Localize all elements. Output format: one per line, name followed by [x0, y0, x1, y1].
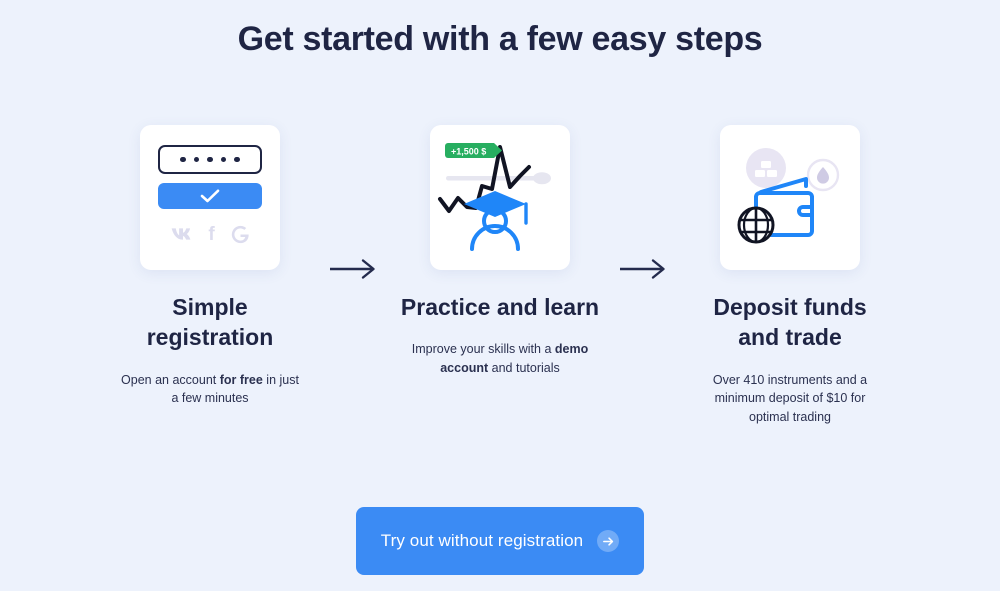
step-title: Practice and learn	[401, 292, 599, 322]
password-dot	[207, 157, 213, 163]
step-connector-1	[325, 125, 385, 280]
password-dot	[221, 157, 227, 163]
get-started-page: { "page": { "title": "Get started with a…	[0, 0, 1000, 591]
profit-badge-label: +1,500 $	[451, 147, 486, 157]
desc-part: and tutorials	[488, 361, 560, 375]
step-description: Over 410 instruments and a minimum depos…	[698, 371, 883, 427]
desc-part: Improve your skills with a	[412, 342, 555, 356]
password-dot	[180, 157, 186, 163]
desc-part: Over 410 instruments and a minimum depos…	[713, 373, 867, 424]
social-login-icons: f	[140, 225, 280, 244]
step-deposit-funds-and-trade: Deposit funds and trade Over 410 instrum…	[675, 125, 905, 426]
try-out-without-registration-button[interactable]: Try out without registration	[356, 507, 644, 575]
step-title: Simple registration	[110, 292, 310, 353]
step-description: Open an account for free in just a few m…	[118, 371, 303, 408]
password-dot	[234, 157, 240, 163]
desc-part: Open an account	[121, 373, 220, 387]
wallet-assets-illustration	[720, 125, 860, 270]
step-title: Deposit funds and trade	[690, 292, 890, 353]
password-field-graphic	[158, 145, 262, 174]
submit-button-graphic	[158, 183, 262, 209]
oil-drop-icon	[808, 160, 838, 190]
deposit-illustration-card	[720, 125, 860, 270]
chart-graduation-illustration: +1,500 $	[430, 125, 570, 270]
google-icon	[231, 225, 250, 244]
arrow-right-icon	[330, 258, 380, 280]
gold-bars-icon	[746, 148, 786, 188]
registration-illustration-card: f	[140, 125, 280, 270]
graduation-cap-icon	[464, 191, 526, 223]
step-simple-registration: f Simple registration Open an account fo…	[95, 125, 325, 408]
step-practice-and-learn: +1,500 $ Practice and learn Improve your…	[385, 125, 615, 377]
step-connector-2	[615, 125, 675, 280]
arrow-right-circle-icon	[597, 530, 619, 552]
coin-globe-icon	[739, 208, 773, 242]
page-title: Get started with a few easy steps	[0, 0, 1000, 60]
cta-label: Try out without registration	[381, 531, 583, 551]
desc-highlight: for free	[220, 373, 263, 387]
steps-row: f Simple registration Open an account fo…	[0, 125, 1000, 426]
track-end-cap	[533, 172, 551, 184]
cta-area: Try out without registration	[0, 507, 1000, 575]
step-description: Improve your skills with a demo account …	[408, 340, 593, 377]
vk-icon	[170, 227, 192, 242]
arrow-right-icon	[620, 258, 670, 280]
check-icon	[200, 189, 220, 203]
facebook-icon: f	[208, 225, 214, 244]
practice-illustration-card: +1,500 $	[430, 125, 570, 270]
profit-badge: +1,500 $	[445, 143, 502, 158]
password-dot	[194, 157, 200, 163]
